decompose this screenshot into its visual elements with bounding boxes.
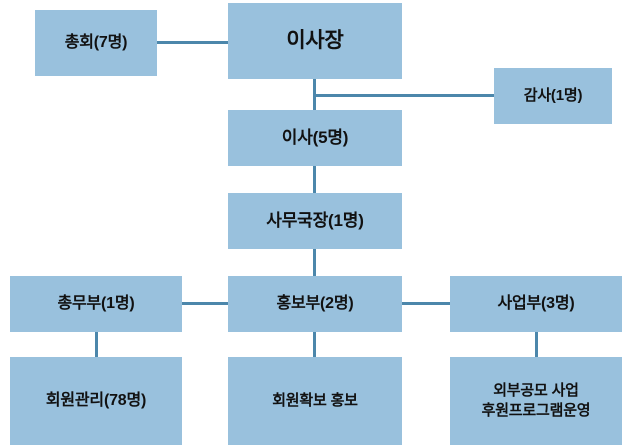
org-node-member-management[interactable]: 회원관리(78명) (10, 357, 182, 445)
org-node-label: 회원확보 홍보 (272, 391, 358, 411)
connector-pr-to-business (402, 302, 450, 305)
org-node-label: 이사장 (286, 27, 343, 55)
org-node-general-affairs-dept[interactable]: 총무부(1명) (10, 276, 182, 332)
connector-auditor-to-trunk (313, 94, 494, 97)
org-node-chairman[interactable]: 이사장 (228, 3, 402, 79)
org-node-public-relations-dept[interactable]: 홍보부(2명) (228, 276, 402, 332)
org-node-label: 사업부(3명) (497, 293, 574, 315)
org-node-label: 외부공모 사업 (493, 381, 579, 401)
org-node-auditor[interactable]: 감사(1명) (494, 68, 612, 124)
connector-secretary-to-pr-dept (313, 249, 316, 276)
connector-assembly-to-chairman (157, 41, 228, 44)
org-node-label: 총무부(1명) (57, 293, 134, 315)
org-node-label: 이사(5명) (282, 127, 349, 150)
org-node-label: 사무국장(1명) (266, 210, 363, 233)
org-node-member-recruitment-pr[interactable]: 회원확보 홍보 (228, 357, 402, 445)
org-node-director[interactable]: 이사(5명) (228, 110, 402, 166)
org-node-external-projects[interactable]: 외부공모 사업후원프로그램운영 (450, 357, 622, 445)
org-chart-canvas: 총회(7명)이사장감사(1명)이사(5명)사무국장(1명)총무부(1명)홍보부(… (0, 0, 622, 448)
connector-pr-dept-to-recruitment (313, 332, 316, 357)
connector-director-to-secretary (313, 166, 316, 193)
connector-general-affairs-to-member-mgmt (95, 332, 98, 357)
org-node-secretary-general[interactable]: 사무국장(1명) (228, 193, 402, 249)
org-node-label: 총회(7명) (65, 32, 128, 54)
connector-pr-to-general-affairs (182, 302, 228, 305)
connector-business-to-external (535, 332, 538, 357)
org-node-label: 회원관리(78명) (46, 390, 146, 412)
org-node-business-dept[interactable]: 사업부(3명) (450, 276, 622, 332)
org-node-label: 홍보부(2명) (276, 293, 353, 315)
org-node-general-assembly[interactable]: 총회(7명) (35, 10, 157, 76)
org-node-label-secondary: 후원프로그램운영 (482, 401, 591, 421)
org-node-label: 감사(1명) (524, 86, 583, 106)
